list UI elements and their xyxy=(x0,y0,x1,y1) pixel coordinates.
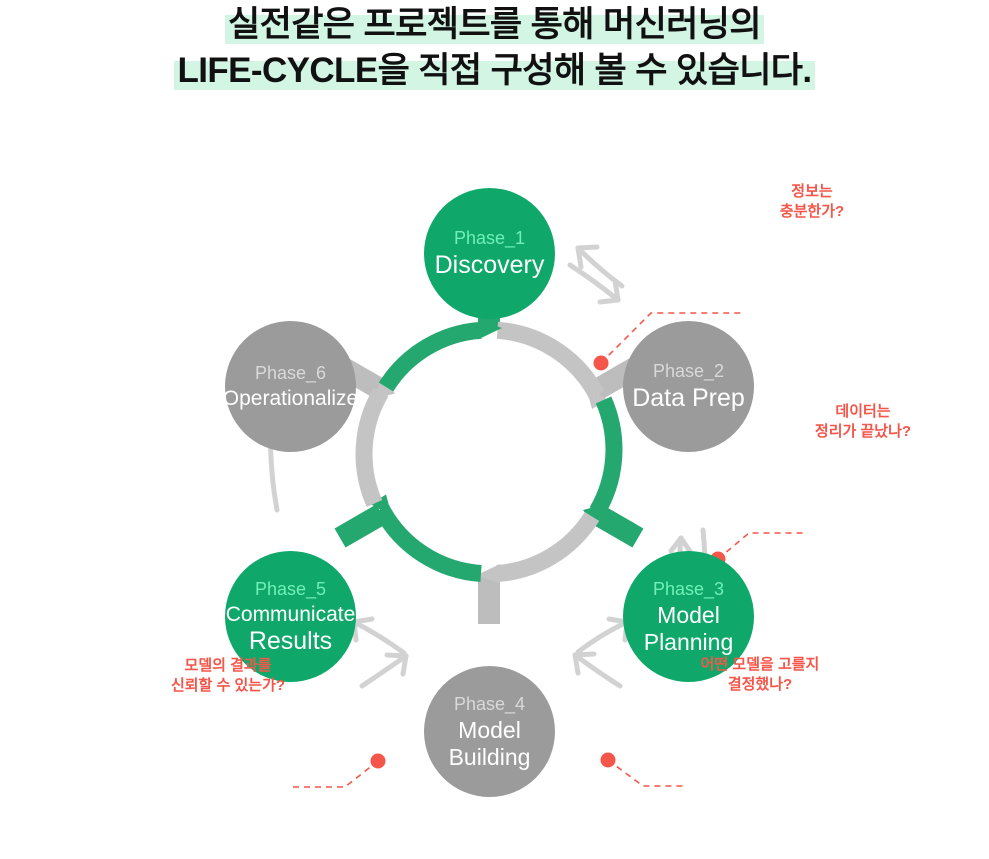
title-line-1: 실전같은 프로젝트를 통해 머신러닝의 xyxy=(0,2,989,48)
spoke-phase-4 xyxy=(478,576,500,624)
page-title: 실전같은 프로젝트를 통해 머신러닝의 LIFE-CYCLE을 직접 구성해 볼… xyxy=(0,0,989,94)
phase-node-5-name-line2: Results xyxy=(249,627,332,656)
lifecycle-diagram: Phase_1 Discovery Phase_2 Data Prep Phas… xyxy=(0,110,989,790)
arc-phase6-to-phase1 xyxy=(386,320,502,387)
title-line-2-text: LIFE-CYCLE을 직접 구성해 볼 수 있습니다. xyxy=(174,51,814,90)
phase-node-1-name: Discovery xyxy=(435,251,545,280)
arc-phase3-to-phase4 xyxy=(476,517,592,584)
callout-1-line2: 충분한가? xyxy=(742,202,882,222)
phase-node-4-name-line1: Model xyxy=(458,717,521,744)
callout-1: 정보는 충분한가? xyxy=(742,182,882,222)
phase-node-5-name-line1: Communicate xyxy=(226,602,356,627)
decor-arrow-4-5 xyxy=(354,619,406,686)
callout-4-line2: 신뢰할 수 있는가? xyxy=(148,676,308,696)
callout-3: 어떤 모델을 고를지 결정했나? xyxy=(672,655,848,695)
phase-node-2-name: Data Prep xyxy=(632,384,745,413)
callout-4-line1: 모델의 결과를 xyxy=(148,656,308,676)
callout-2-line2: 정리가 끝났나? xyxy=(783,422,943,442)
decor-arrow-1-2 xyxy=(570,247,622,302)
arc-phase2-to-phase3 xyxy=(583,400,614,527)
phase-node-6-name: Operationalize xyxy=(223,386,358,411)
arc-phase1-to-phase2 xyxy=(498,330,608,409)
callout-1-line1: 정보는 xyxy=(742,182,882,202)
callout-4: 모델의 결과를 신뢰할 수 있는가? xyxy=(148,656,308,696)
title-line-2: LIFE-CYCLE을 직접 구성해 볼 수 있습니다. xyxy=(0,48,989,94)
phase-node-4-name-line2: Building xyxy=(449,744,531,771)
callout-2: 데이터는 정리가 끝났나? xyxy=(783,402,943,442)
phase-node-4[interactable]: Phase_4 Model Building xyxy=(424,666,555,797)
callout-3-line1: 어떤 모델을 고를지 xyxy=(672,655,848,675)
phase-node-3-name-line1: Model xyxy=(657,602,720,629)
phase-node-2[interactable]: Phase_2 Data Prep xyxy=(623,321,754,452)
leader-line-3 xyxy=(608,760,686,786)
phase-node-3-name-line2: Planning xyxy=(644,629,734,656)
phase-node-1-label: Phase_1 xyxy=(454,227,525,250)
callout-dot-3 xyxy=(601,753,616,768)
title-line-1-text: 실전같은 프로젝트를 통해 머신러닝의 xyxy=(225,5,764,44)
phase-node-1[interactable]: Phase_1 Discovery xyxy=(424,188,555,319)
callout-dot-4 xyxy=(371,754,386,769)
arc-phase4-to-phase5 xyxy=(371,495,482,574)
diagram-page: 실전같은 프로젝트를 통해 머신러닝의 LIFE-CYCLE을 직접 구성해 볼… xyxy=(0,0,989,859)
phase-node-6[interactable]: Phase_6 Operationalize xyxy=(225,321,356,452)
callout-2-line1: 데이터는 xyxy=(783,402,943,422)
leader-line-4 xyxy=(293,761,378,787)
phase-node-5-label: Phase_5 xyxy=(255,578,326,601)
decor-arrow-3-4 xyxy=(575,619,627,686)
phase-node-2-label: Phase_2 xyxy=(653,360,724,383)
phase-node-6-label: Phase_6 xyxy=(255,362,326,385)
callout-3-line2: 결정했나? xyxy=(672,675,848,695)
arc-phase5-to-phase6 xyxy=(364,377,395,504)
leader-line-2 xyxy=(718,533,805,559)
callout-dot-1 xyxy=(594,356,609,371)
phase-node-4-label: Phase_4 xyxy=(454,693,525,716)
phase-node-3-label: Phase_3 xyxy=(653,578,724,601)
